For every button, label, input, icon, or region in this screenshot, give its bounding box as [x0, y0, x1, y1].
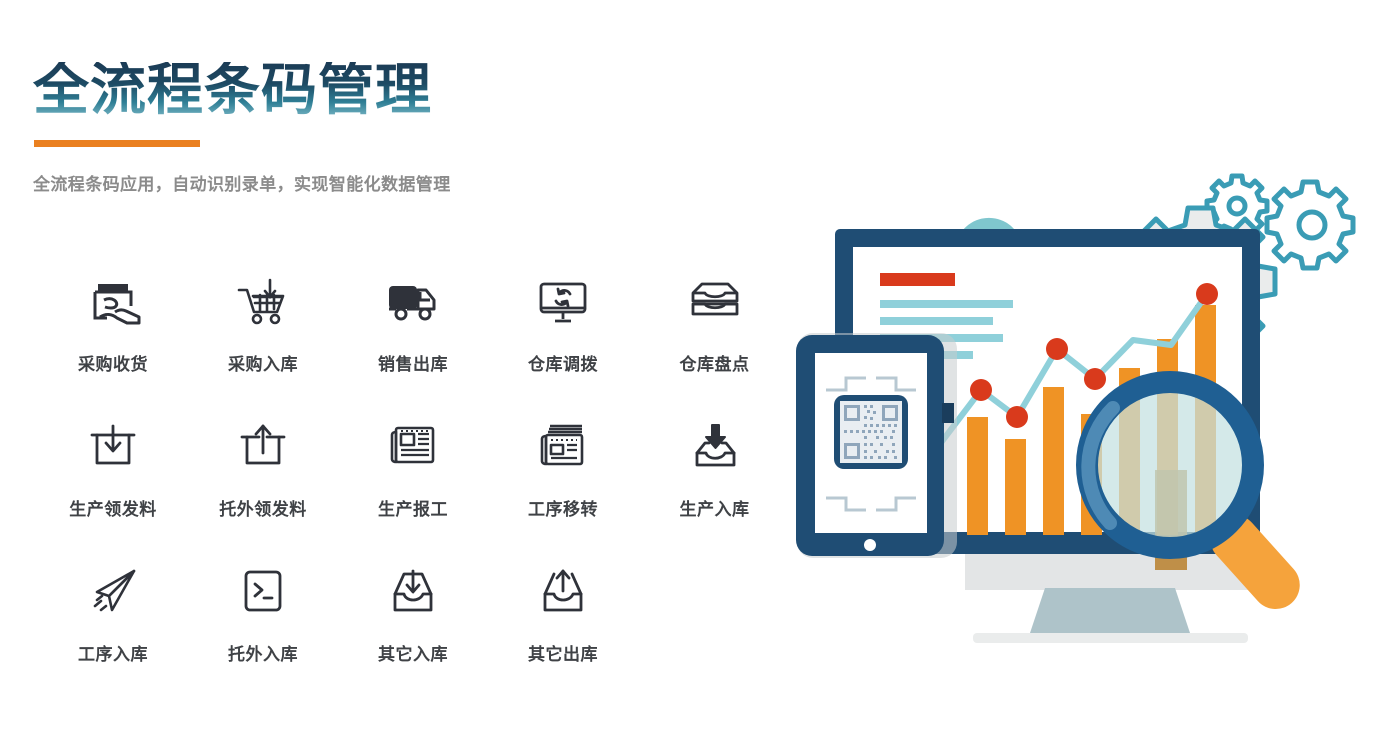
feature-label: 托外领发料	[219, 495, 307, 520]
qr-code	[834, 395, 908, 469]
feature-label: 其它入库	[378, 640, 448, 665]
inbox-arrow-down-icon	[686, 417, 744, 477]
feature-item-process-instock[interactable]: 工序入库	[38, 562, 188, 707]
icon-grid-row: 工序入库 托外入库 其它入库	[38, 562, 798, 707]
feature-label: 采购入库	[228, 350, 298, 375]
feature-label: 其它出库	[528, 640, 598, 665]
monitor-stand	[965, 550, 1265, 643]
feature-item-outsourcing-issue[interactable]: 托外领发料	[188, 417, 338, 562]
feature-item-purchase-receive[interactable]: 采购收货	[38, 272, 188, 417]
icon-grid-row: 生产领发料 托外领发料	[38, 417, 798, 562]
feature-label: 仓库盘点	[680, 350, 750, 375]
gear-medium-icon	[1267, 182, 1353, 268]
shopping-cart-down-arrow-icon	[234, 272, 292, 332]
feature-item-other-outstock[interactable]: 其它出库	[488, 562, 638, 707]
feature-item-warehouse-transfer[interactable]: 仓库调拨	[488, 272, 638, 417]
newspaper-transfer-icon	[534, 417, 592, 477]
barcode-analytics-illustration	[795, 165, 1378, 670]
page-subtitle: 全流程条码应用，自动识别录单，实现智能化数据管理	[33, 170, 451, 195]
feature-icon-grid: 采购收货 采购入库	[38, 272, 798, 707]
stacked-trays-icon	[686, 272, 744, 332]
tablet-device	[796, 333, 957, 558]
feature-item-production-instock[interactable]: 生产入库	[638, 417, 791, 562]
feature-item-production-report[interactable]: 生产报工	[338, 417, 488, 562]
feature-label: 工序入库	[78, 640, 148, 665]
terminal-prompt-icon	[234, 562, 292, 622]
hand-receive-box-icon	[84, 272, 142, 332]
feature-item-other-instock[interactable]: 其它入库	[338, 562, 488, 707]
page-title: 全流程条码管理	[33, 62, 432, 118]
feature-label: 采购收货	[78, 350, 148, 375]
feature-item-purchase-instock[interactable]: 采购入库	[188, 272, 338, 417]
box-arrow-up-icon	[234, 417, 292, 477]
feature-label: 工序移转	[528, 495, 598, 520]
screen-text-line	[880, 317, 993, 325]
monitor-sync-icon	[534, 272, 592, 332]
icon-grid-row: 采购收货 采购入库	[38, 272, 798, 417]
screen-headline-bar	[880, 273, 955, 286]
title-underline-accent	[34, 140, 200, 147]
feature-item-outsourcing-instock[interactable]: 托外入库	[188, 562, 338, 707]
feature-item-warehouse-stocktake[interactable]: 仓库盘点	[638, 272, 791, 417]
feature-label: 托外入库	[228, 640, 298, 665]
feature-label: 生产领发料	[69, 495, 157, 520]
tray-arrow-down-icon	[384, 562, 442, 622]
feature-item-process-transfer[interactable]: 工序移转	[488, 417, 638, 562]
feature-label: 仓库调拨	[528, 350, 598, 375]
feature-label: 销售出库	[378, 350, 448, 375]
feature-item-empty	[638, 562, 791, 707]
delivery-truck-icon	[384, 272, 442, 332]
box-arrow-down-icon	[84, 417, 142, 477]
screen-text-line	[880, 300, 1013, 308]
feature-item-production-issue[interactable]: 生产领发料	[38, 417, 188, 562]
tray-arrow-up-icon	[534, 562, 592, 622]
feature-label: 生产入库	[680, 495, 750, 520]
paper-plane-icon	[84, 562, 142, 622]
newspaper-report-icon	[384, 417, 442, 477]
feature-label: 生产报工	[378, 495, 448, 520]
feature-item-sales-outstock[interactable]: 销售出库	[338, 272, 488, 417]
